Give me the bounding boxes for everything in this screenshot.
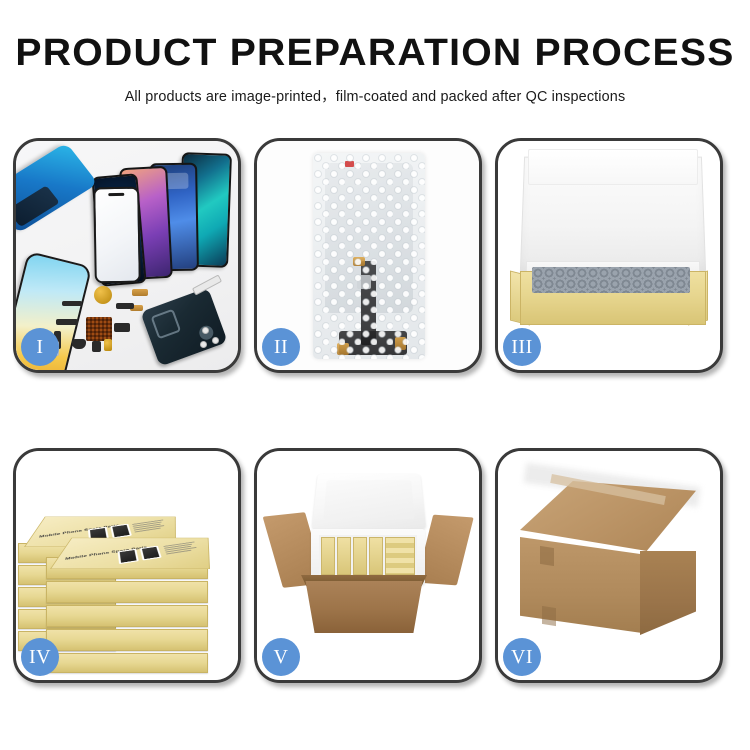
step-badge: IV (21, 638, 59, 676)
process-step-panel-3: III (495, 138, 723, 373)
process-step-grid: I II (13, 138, 737, 677)
part-taptic-icon (72, 339, 86, 349)
inner-box-lid-top-icon (528, 149, 698, 185)
retail-box-slab-flat (385, 537, 416, 575)
step-badge: V (262, 638, 300, 676)
carton-seam-upper-icon (540, 546, 554, 566)
carton-body-icon (299, 581, 429, 633)
retail-boxes-in-liner-icon (319, 535, 417, 577)
process-step-panel-4: Mobile Phone Spare Parts (13, 448, 241, 683)
part-screw-a-icon (202, 327, 209, 334)
part-speaker-icon (94, 286, 112, 304)
process-step-panel-5: V (254, 448, 482, 683)
retail-box-edge (46, 581, 208, 603)
step-badge: I (21, 328, 59, 366)
header: PRODUCT PREPARATION PROCESS All products… (0, 34, 750, 106)
bubble-wrap-bag (313, 153, 425, 359)
retail-box-slab (321, 537, 335, 575)
process-step-panel-2: II (254, 138, 482, 373)
part-copper-mesh-icon (86, 317, 112, 341)
part-strip-icon (62, 301, 82, 306)
product-image-icon (110, 524, 132, 539)
product-preparation-infographic: PRODUCT PREPARATION PROCESS All products… (0, 0, 750, 750)
part-antenna-icon (56, 319, 78, 325)
process-step-panel-1: I (13, 138, 241, 373)
retail-box-face-front: Mobile Phone Spare Parts (50, 538, 210, 569)
product-image-icon (140, 546, 162, 561)
part-camera-icon (92, 341, 101, 352)
part-screw-b-icon (212, 337, 219, 344)
retail-box-spec-lines (132, 519, 168, 533)
part-shield-icon (114, 323, 130, 332)
page-title: PRODUCT PREPARATION PROCESS (0, 34, 750, 72)
step-badge: VI (503, 638, 541, 676)
styrofoam-lid-icon (312, 474, 426, 530)
retail-box-slab (353, 537, 367, 575)
bubble-texture-icon (313, 153, 425, 359)
carton-seam-lower-icon (542, 606, 556, 626)
retail-box-stack-icon: Mobile Phone Spare Parts (18, 465, 234, 669)
retail-box-slab (369, 537, 383, 575)
part-screw-c-icon (200, 341, 207, 348)
retail-box-edge (46, 653, 208, 673)
part-connector-icon (116, 303, 134, 309)
part-flex-cable-icon (132, 289, 148, 296)
product-image-icon (118, 549, 139, 564)
part-gold-chip-icon (104, 339, 112, 351)
screen-protector-icon (93, 187, 141, 284)
retail-box-spec-lines (163, 541, 199, 555)
retail-box-slab (337, 537, 351, 575)
step-badge: III (503, 328, 541, 366)
process-step-panel-6: VI (495, 448, 723, 683)
page-subtitle: All products are image-printed，film-coat… (0, 85, 750, 106)
bubble-wrapped-contents-icon (532, 267, 690, 293)
retail-box-edge (46, 605, 208, 627)
retail-box-edge (46, 629, 208, 651)
step-badge: II (262, 328, 300, 366)
